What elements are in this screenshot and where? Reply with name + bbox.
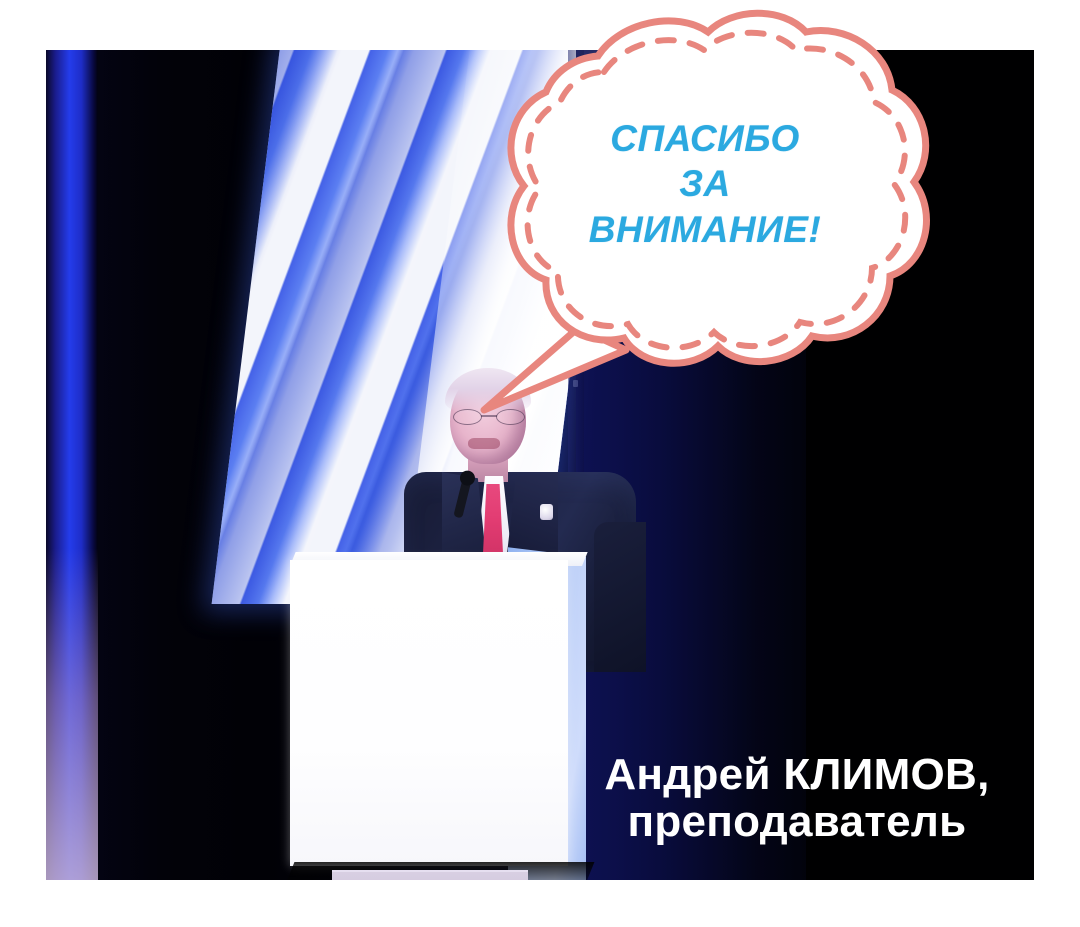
glasses-bridge bbox=[481, 415, 497, 417]
speech-bubble-line-2: ЗА bbox=[510, 163, 900, 204]
speaker-hair bbox=[445, 368, 531, 414]
podium-front-panel bbox=[290, 560, 568, 866]
speaker-caption: Андрей КЛИМОВ, преподаватель bbox=[572, 752, 1022, 845]
column-rivet bbox=[573, 260, 578, 267]
speech-bubble-line-1: СПАСИБО bbox=[510, 118, 900, 159]
speech-bubble-text: СПАСИБО ЗА ВНИМАНИЕ! bbox=[510, 118, 900, 250]
glasses-lens-right bbox=[496, 409, 525, 425]
speech-bubble-line-3: ВНИМАНИЕ! bbox=[510, 209, 900, 250]
screenshot-canvas: СПАСИБО ЗА ВНИМАНИЕ! Андрей КЛИМОВ, преп… bbox=[0, 0, 1080, 927]
speaker-lapel-pin bbox=[540, 504, 553, 520]
speaker-right-arm bbox=[594, 522, 646, 672]
podium-base bbox=[332, 870, 528, 880]
glasses-lens-left bbox=[453, 409, 482, 425]
speaker-mouth bbox=[468, 438, 500, 449]
caption-name: Андрей КЛИМОВ, bbox=[572, 752, 1022, 799]
left-blue-light-strip bbox=[46, 50, 98, 880]
glasses-icon bbox=[452, 409, 526, 424]
caption-role: преподаватель bbox=[572, 799, 1022, 846]
